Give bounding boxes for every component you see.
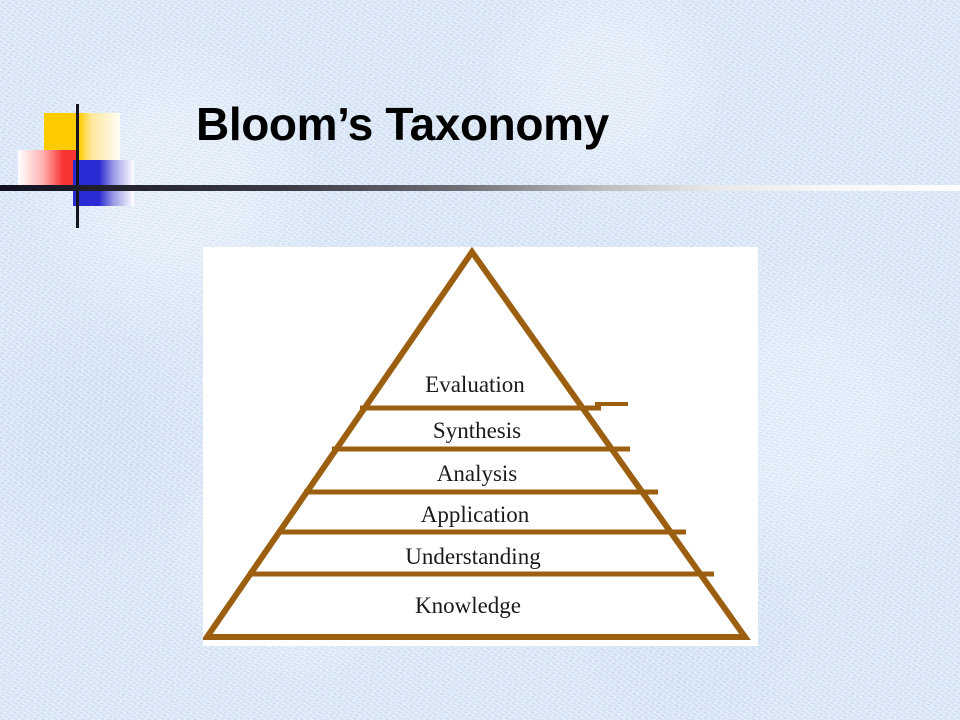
pyramid-label-evaluation: Evaluation: [425, 372, 525, 397]
red-square-icon: [18, 150, 76, 186]
bloom-taxonomy-pyramid: Evaluation Synthesis Analysis Applicatio…: [203, 247, 758, 646]
blue-square-icon: [73, 160, 134, 206]
pyramid-label-analysis: Analysis: [437, 461, 518, 486]
pyramid-outline: [207, 252, 745, 637]
title-divider: [0, 185, 960, 191]
slide-canvas: Bloom’s Taxonomy Evaluation Synthesis An…: [0, 0, 960, 720]
page-title: Bloom’s Taxonomy: [196, 97, 609, 151]
vertical-rule-icon: [76, 104, 79, 228]
pyramid-image-panel: Evaluation Synthesis Analysis Applicatio…: [203, 247, 758, 646]
pyramid-label-application: Application: [421, 502, 530, 527]
decorative-squares-logo: [0, 90, 200, 230]
pyramid-label-knowledge: Knowledge: [415, 593, 521, 618]
pyramid-label-synthesis: Synthesis: [433, 418, 521, 443]
pyramid-label-understanding: Understanding: [405, 544, 541, 569]
